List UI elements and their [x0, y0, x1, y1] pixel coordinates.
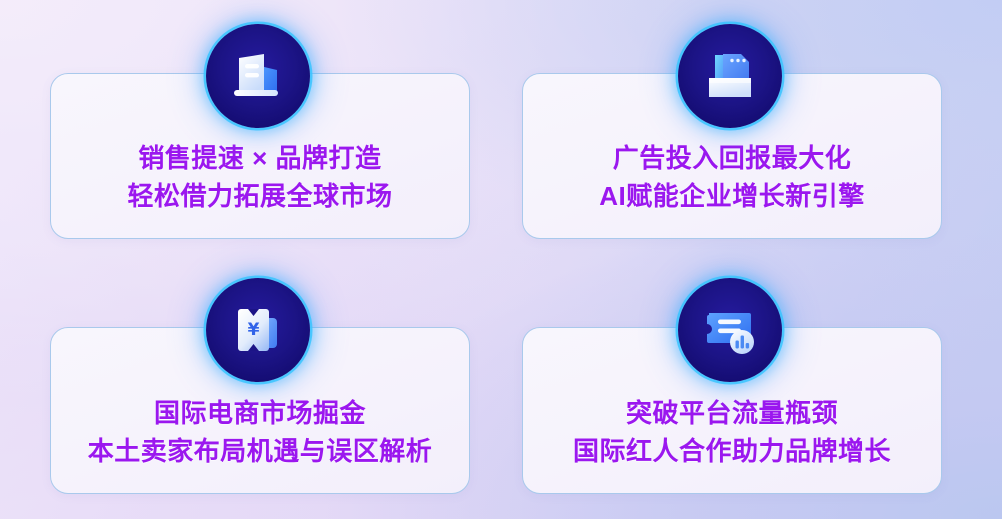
card-text-block: 国际电商市场掘金 本土卖家布局机遇与误区解析 [51, 395, 469, 471]
money-coupon-icon-glyph: ¥ [227, 299, 289, 361]
card-text-block: 广告投入回报最大化 AI赋能企业增长新引擎 [523, 140, 941, 216]
card-title-line-1: 销售提速 × 品牌打造 [51, 140, 469, 178]
card-title-line-1: 国际电商市场掘金 [51, 395, 469, 433]
card-title-line-2: AI赋能企业增长新引擎 [523, 178, 941, 216]
card-title-line-2: 本土卖家布局机遇与误区解析 [51, 433, 469, 471]
document-inbox-icon [678, 24, 782, 128]
card-title-line-1: 突破平台流量瓶颈 [523, 395, 941, 433]
office-building-icon-glyph [227, 45, 289, 107]
card-grid: 销售提速 × 品牌打造 轻松借力拓展全球市场 [0, 0, 1002, 519]
card-title-line-1: 广告投入回报最大化 [523, 140, 941, 178]
poster-background: 销售提速 × 品牌打造 轻松借力拓展全球市场 [0, 0, 1002, 519]
card-text-block: 销售提速 × 品牌打造 轻松借力拓展全球市场 [51, 140, 469, 216]
card-title-line-2: 轻松借力拓展全球市场 [51, 178, 469, 216]
document-inbox-icon-glyph [699, 45, 761, 107]
message-chart-icon [678, 278, 782, 382]
card-text-block: 突破平台流量瓶颈 国际红人合作助力品牌增长 [523, 395, 941, 471]
message-chart-icon-glyph [699, 299, 761, 361]
office-building-icon [206, 24, 310, 128]
card-title-line-2: 国际红人合作助力品牌增长 [523, 433, 941, 471]
svg-text:¥: ¥ [248, 320, 260, 340]
money-coupon-icon: ¥ [206, 278, 310, 382]
